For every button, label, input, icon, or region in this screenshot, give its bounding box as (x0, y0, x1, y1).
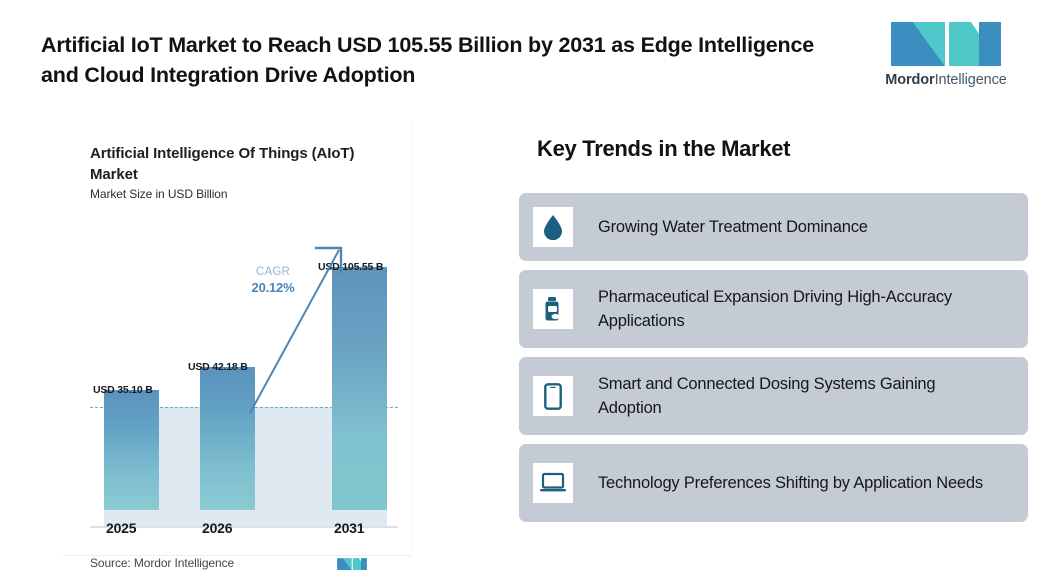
brand-name: MordorIntelligence (871, 72, 1021, 88)
trend-card-list: Growing Water Treatment Dominance Pharma… (519, 193, 1031, 531)
icon-tile (533, 376, 573, 416)
smartphone-icon (544, 383, 562, 410)
trend-card-label: Pharmaceutical Expansion Driving High-Ac… (598, 285, 998, 333)
infographic-page: Artificial IoT Market to Reach USD 105.5… (0, 0, 1063, 583)
trend-card-label: Growing Water Treatment Dominance (598, 215, 868, 239)
trend-card-pharmaceutical[interactable]: Pharmaceutical Expansion Driving High-Ac… (519, 270, 1028, 348)
header: Artificial IoT Market to Reach USD 105.5… (0, 0, 1063, 110)
mordor-intelligence-mi-monogram-icon (887, 12, 1005, 68)
chart-subtitle: Market Size in USD Billion (90, 187, 227, 201)
x-tick-2031: 2031 (334, 520, 364, 536)
brand-logo: MordorIntelligence (871, 12, 1021, 88)
icon-tile (533, 207, 573, 247)
trend-card-label: Technology Preferences Shifting by Appli… (598, 471, 983, 495)
chart-source: Source: Mordor Intelligence (90, 556, 398, 578)
trend-card-label: Smart and Connected Dosing Systems Gaini… (598, 372, 998, 420)
source-label: Source: Mordor Intelligence (90, 556, 234, 570)
bar-chart-plot: USD 35.10 B USD 42.18 B USD 105.55 B CAG… (90, 220, 398, 510)
growth-arrow-icon (90, 220, 398, 510)
icon-tile (533, 289, 573, 329)
chart-title: Artificial Intelligence Of Things (AIoT)… (90, 143, 380, 185)
water-droplet-icon (542, 214, 564, 240)
trend-card-water-treatment[interactable]: Growing Water Treatment Dominance (519, 193, 1028, 261)
trend-card-technology-preferences[interactable]: Technology Preferences Shifting by Appli… (519, 444, 1028, 522)
brand-name-light: Intelligence (935, 72, 1007, 88)
page-title: Artificial IoT Market to Reach USD 105.5… (41, 30, 831, 90)
brand-name-bold: Mordor (885, 72, 934, 88)
laptop-icon (539, 472, 567, 494)
key-trends-title: Key Trends in the Market (537, 136, 790, 162)
icon-tile (533, 463, 573, 503)
x-axis-ticks: 2025 2026 2031 (90, 520, 398, 540)
chart-card: Artificial Intelligence Of Things (AIoT)… (62, 120, 412, 556)
x-tick-2025: 2025 (106, 520, 136, 536)
x-tick-2026: 2026 (202, 520, 232, 536)
mordor-intelligence-mi-monogram-small-icon (336, 553, 368, 573)
trend-card-smart-dosing[interactable]: Smart and Connected Dosing Systems Gaini… (519, 357, 1028, 435)
medicine-bottle-icon (541, 296, 565, 322)
